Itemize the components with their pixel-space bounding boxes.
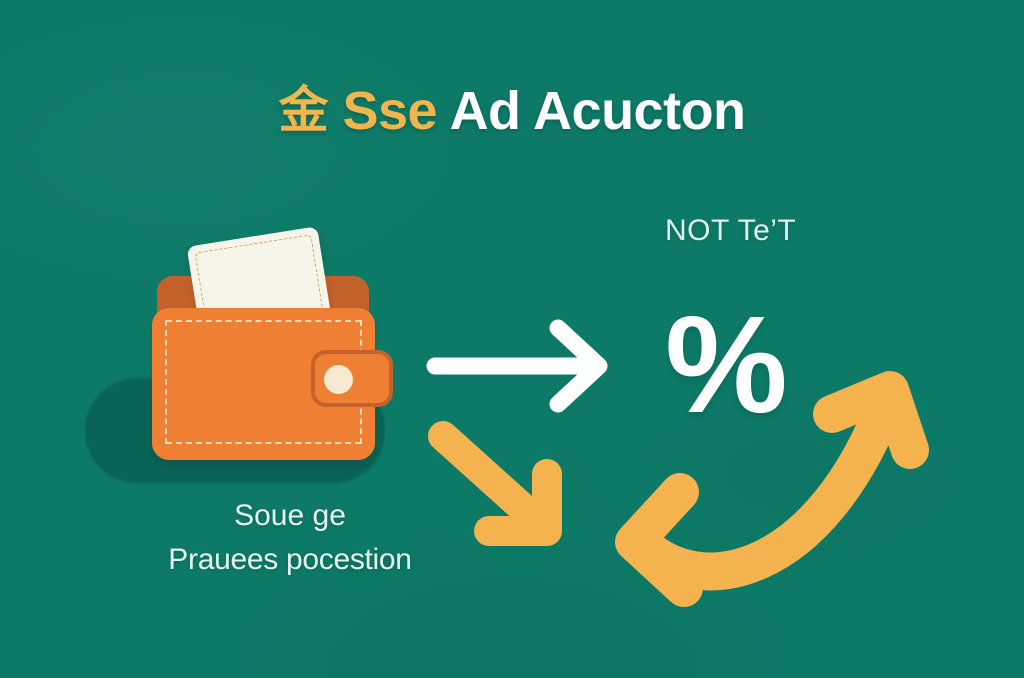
diagonal-down-right-arrow-icon <box>425 418 585 553</box>
poster-canvas: 金 Sse Ad Acucton NOT Te’T <box>0 0 1024 678</box>
wallet-icon <box>95 230 425 480</box>
wallet-caption: Soue ge Prauees pocestion <box>160 494 420 581</box>
wallet-body <box>152 308 375 460</box>
title-gold-word: Sse <box>342 81 437 141</box>
wallet-stitch-left <box>165 320 167 444</box>
wallet-clasp <box>311 350 393 407</box>
wallet-stitch-top <box>166 320 361 322</box>
caption-line-2: Prauees pocestion <box>160 538 420 582</box>
wallet-clasp-button <box>324 365 353 394</box>
title-kanji-glyph: 金 <box>278 81 328 139</box>
title-white-words: Ad Acucton <box>450 81 746 141</box>
wallet-stitch-bottom <box>166 442 361 444</box>
caption-line-1: Soue ge <box>160 494 420 538</box>
page-title: 金 Sse Ad Acucton <box>0 84 1024 138</box>
percent-symbol: % <box>665 296 784 434</box>
not-text-label: NOT Te’T <box>665 214 796 248</box>
